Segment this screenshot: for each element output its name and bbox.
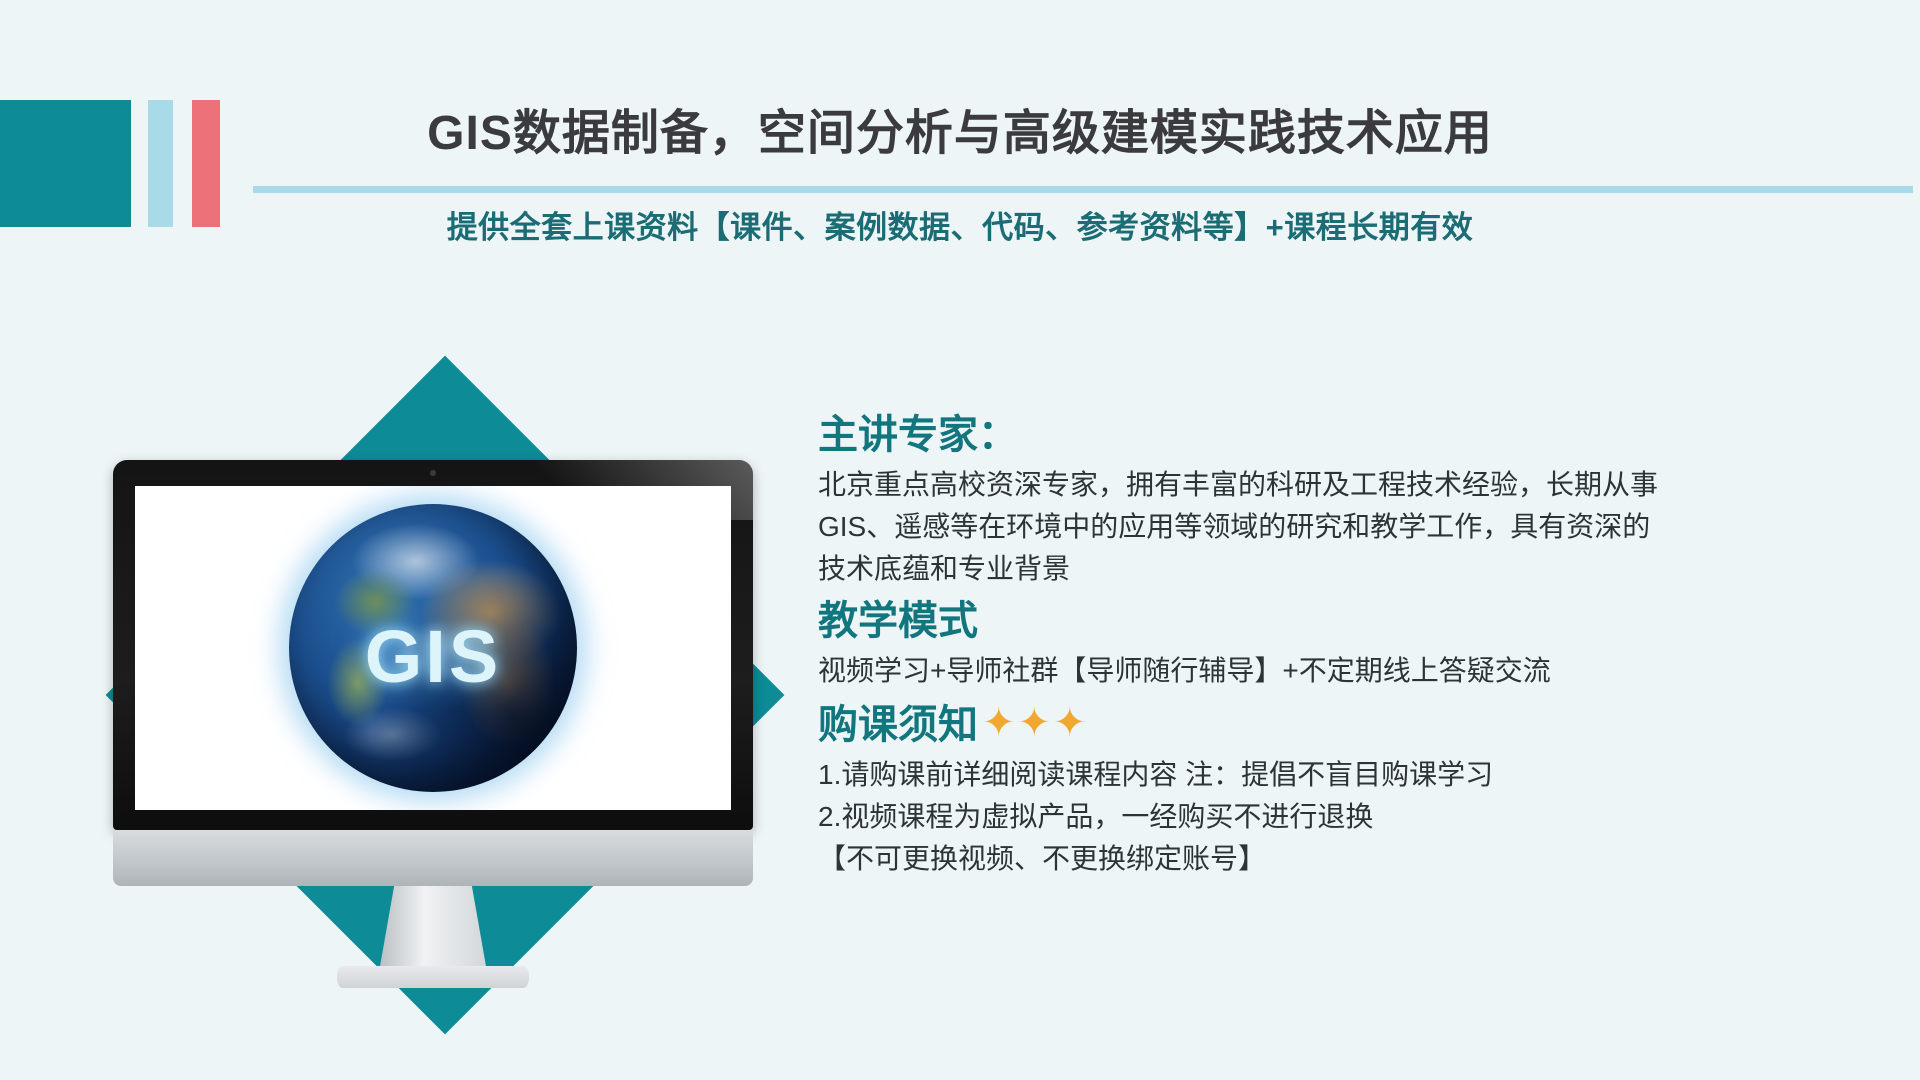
page-subtitle: 提供全套上课资料【课件、案例数据、代码、参考资料等】+课程长期有效 <box>250 202 1670 247</box>
spacer <box>818 692 1888 700</box>
sparkle-star-icon: ✦ <box>982 700 1016 746</box>
notice-line-3: 【不可更换视频、不更换绑定账号】 <box>818 838 1888 880</box>
sparkle-stars-group: ✦✦✦ <box>982 700 1089 746</box>
webcam-icon <box>430 470 436 476</box>
section-heading-notice: 购课须知✦✦✦ <box>818 700 1888 748</box>
sparkle-star-icon: ✦ <box>1053 700 1087 746</box>
course-info-panel: 主讲专家： 北京重点高校资深专家，拥有丰富的科研及工程技术经验，长期从事 GIS… <box>818 412 1888 880</box>
monitor-bezel: GIS <box>113 460 753 830</box>
earth-globe-icon: GIS <box>289 504 577 792</box>
page-title: GIS数据制备，空间分析与高级建模实践技术应用 <box>250 108 1670 161</box>
monitor-chin <box>113 830 753 886</box>
section-heading-expert: 主讲专家： <box>818 412 1888 458</box>
globe-label: GIS <box>289 614 577 699</box>
monitor-stand-foot <box>337 966 529 988</box>
desktop-monitor-icon: GIS <box>113 460 753 940</box>
monitor-stand-neck <box>379 886 487 972</box>
teaching-line-1: 视频学习+导师社群【导师随行辅导】+不定期线上答疑交流 <box>818 650 1888 692</box>
spacer <box>818 590 1888 598</box>
header-banner: GIS数据制备，空间分析与高级建模实践技术应用 提供全套上课资料【课件、案例数据… <box>0 0 1920 270</box>
expert-line-1: 北京重点高校资深专家，拥有丰富的科研及工程技术经验，长期从事 <box>818 464 1888 506</box>
notice-line-2: 2.视频课程为虚拟产品，一经购买不进行退换 <box>818 796 1888 838</box>
expert-line-3: 技术底蕴和专业背景 <box>818 548 1888 590</box>
decor-bar-coral <box>192 100 220 227</box>
notice-heading-text: 购课须知 <box>818 703 978 747</box>
expert-line-2: GIS、遥感等在环境中的应用等领域的研究和教学工作，具有资深的 <box>818 506 1888 548</box>
decor-bar-teal <box>0 100 131 227</box>
monitor-screen: GIS <box>135 486 731 810</box>
hero-illustration: GIS <box>65 325 825 1065</box>
notice-line-1: 1.请购课前详细阅读课程内容 注：提倡不盲目购课学习 <box>818 754 1888 796</box>
decor-bar-light-blue <box>148 100 173 227</box>
section-heading-teaching: 教学模式 <box>818 598 1888 644</box>
title-underline-rule <box>253 186 1913 193</box>
sparkle-star-icon: ✦ <box>1018 700 1052 746</box>
